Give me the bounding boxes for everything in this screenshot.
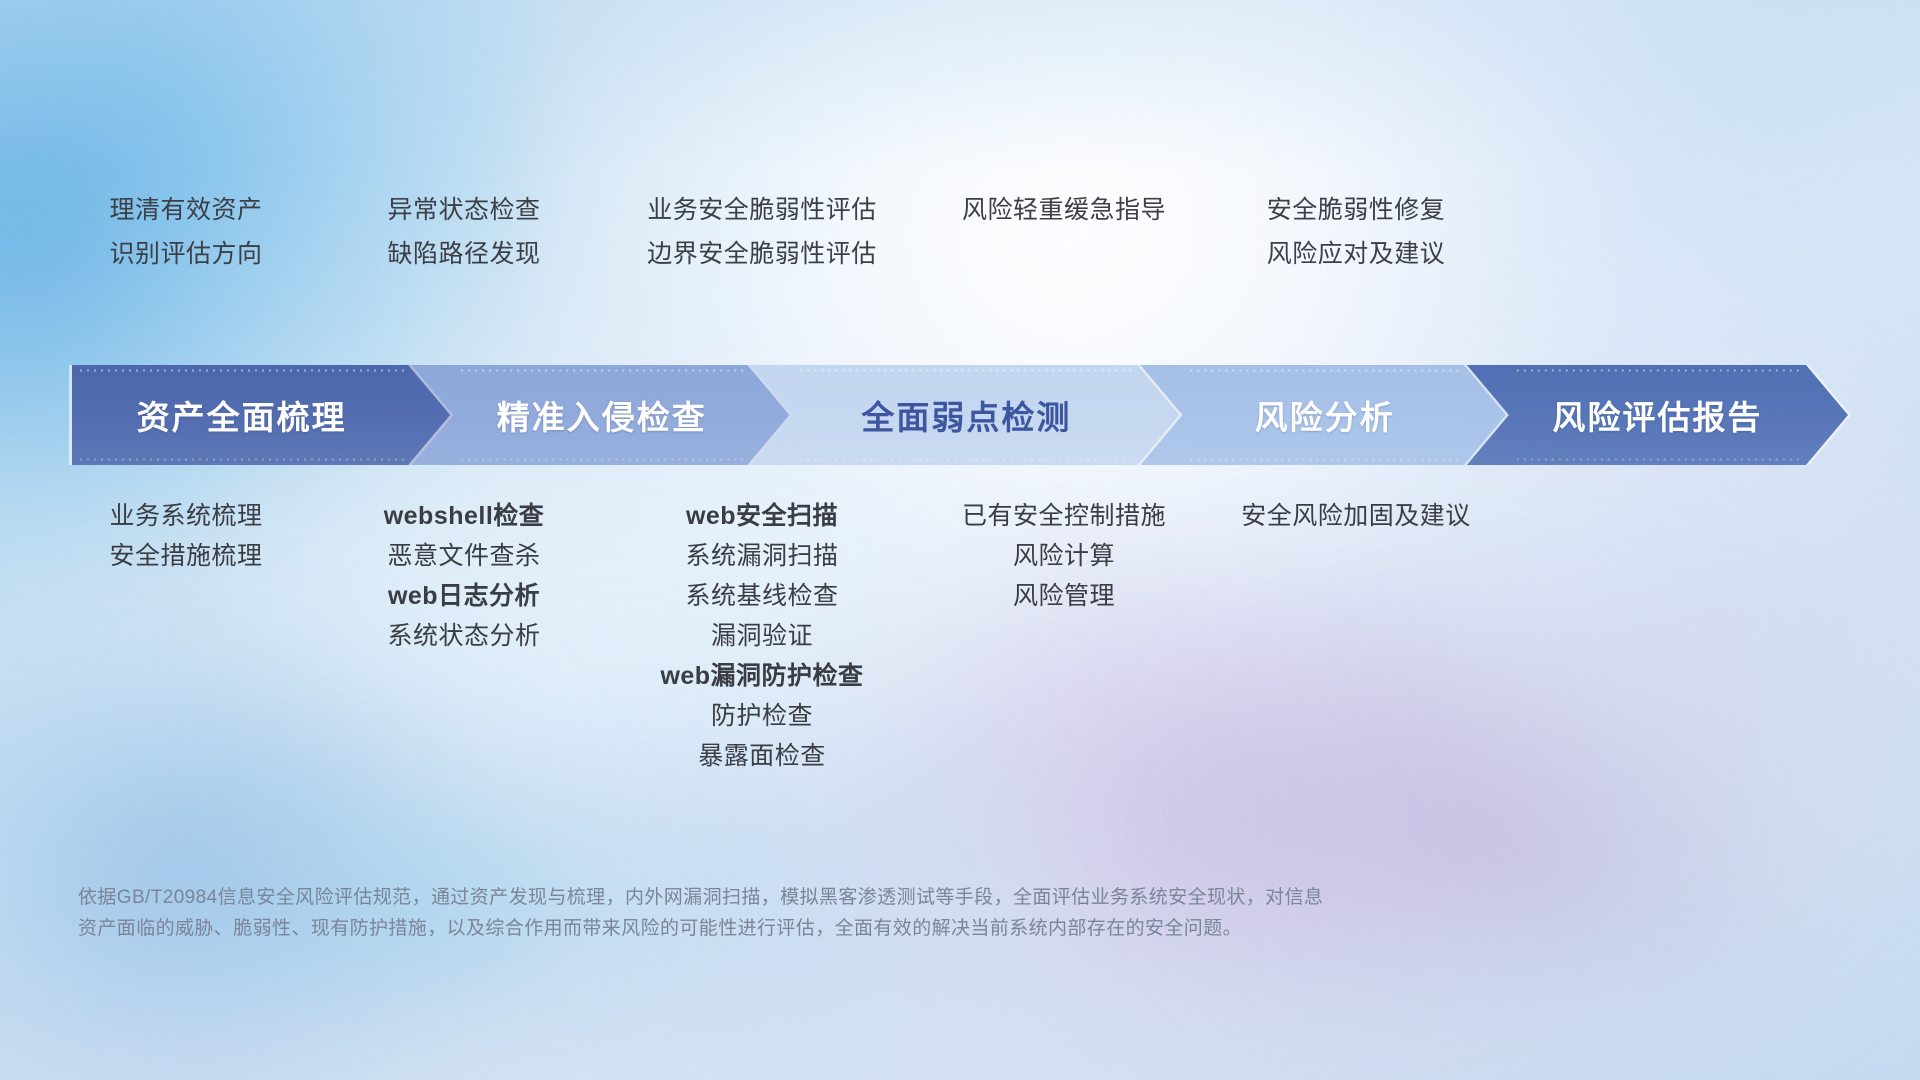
- bottom-item: 安全风险加固及建议: [1106, 496, 1606, 536]
- arrow-segment-asset-inventory[interactable]: [72, 365, 453, 465]
- process-arrow-banner: 资产全面梳理精准入侵检查全面弱点检测风险分析风险评估报告: [72, 365, 1848, 465]
- footer-line-1: 依据GB/T20984信息安全风险评估规范，通过资产发现与梳理，内外网漏洞扫描，…: [78, 882, 1398, 913]
- top-item: 安全脆弱性修复: [1267, 188, 1446, 232]
- top-item: 边界安全脆弱性评估: [647, 232, 877, 276]
- bottom-item: 风险计算: [814, 536, 1314, 576]
- bottom-column-risk-report: 安全风险加固及建议: [1106, 496, 1606, 536]
- footer-description: 依据GB/T20984信息安全风险评估规范，通过资产发现与梳理，内外网漏洞扫描，…: [78, 882, 1398, 944]
- bottom-item: web漏洞防护检查: [512, 656, 1012, 696]
- bottom-item: 暴露面检查: [512, 736, 1012, 776]
- process-arrow-shapes: [72, 365, 1848, 465]
- arrow-segment-intrusion-check[interactable]: [411, 365, 792, 465]
- bottom-item: 风险管理: [814, 576, 1314, 616]
- arrow-segment-risk-report[interactable]: [1467, 365, 1848, 465]
- bottom-item: 防护检查: [512, 696, 1012, 736]
- arrow-segment-risk-analysis[interactable]: [1140, 365, 1508, 465]
- footer-line-2: 资产面临的威胁、脆弱性、现有防护措施，以及综合作用而带来风险的可能性进行评估，全…: [78, 913, 1398, 944]
- arrow-segment-weakness-detection[interactable]: [750, 365, 1182, 465]
- top-item: 风险应对及建议: [1267, 232, 1446, 276]
- bottom-item: 漏洞验证: [512, 616, 1012, 656]
- top-column-risk-report: 安全脆弱性修复风险应对及建议: [1106, 188, 1606, 276]
